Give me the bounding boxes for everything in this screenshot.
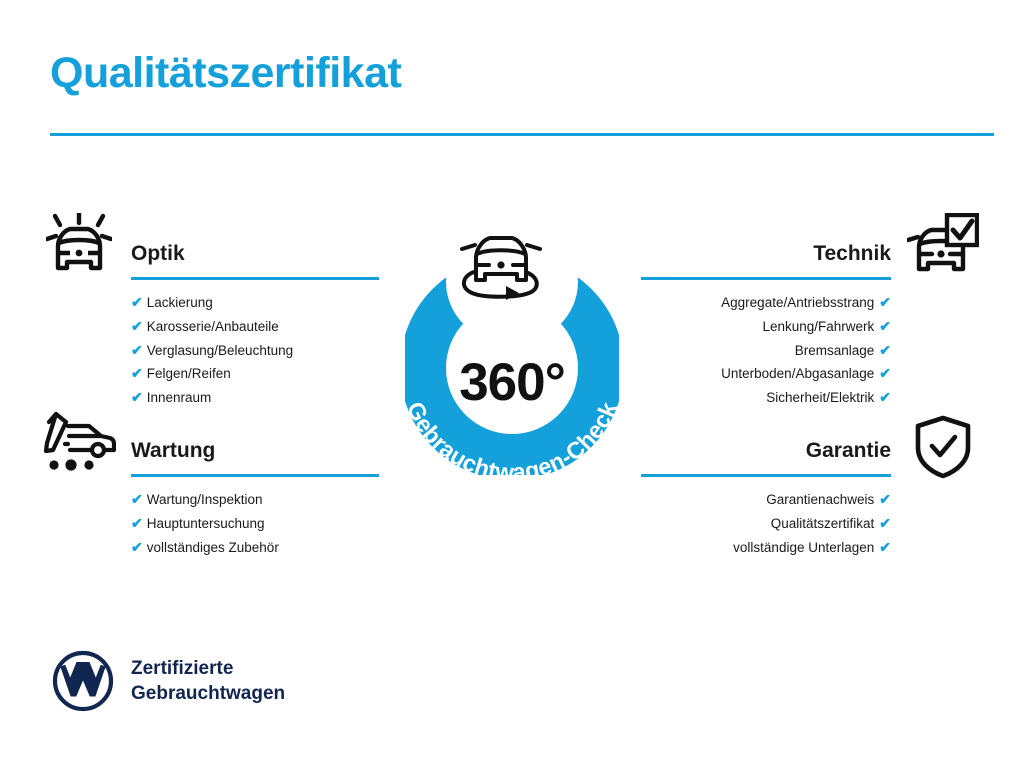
footer-brand: Zertifizierte Gebrauchtwagen [52, 650, 285, 712]
list-item: Bremsanlage✔ [641, 339, 891, 363]
section-technik: Technik Aggregate/Antriebsstrang✔ Lenkun… [641, 240, 891, 410]
list-item-label: Innenraum [147, 390, 212, 405]
360-check-badge: Gebrauchtwagen-Check 360° [372, 196, 652, 486]
list-item: Aggregate/Antriebsstrang✔ [641, 291, 891, 315]
list-item: Garantienachweis✔ [641, 488, 891, 512]
list-item-label: Lenkung/Fahrwerk [762, 319, 874, 334]
list-item: ✔vollständiges Zubehör [131, 536, 379, 560]
list-item: ✔Lackierung [131, 291, 379, 315]
section-garantie-divider [641, 474, 891, 477]
section-garantie-title: Garantie [641, 437, 891, 465]
brand-wordmark: Zertifizierte Gebrauchtwagen [131, 656, 285, 706]
list-item: ✔Felgen/Reifen [131, 362, 379, 386]
list-item-label: Bremsanlage [795, 343, 875, 358]
list-item: ✔Innenraum [131, 386, 379, 410]
check-icon: ✔ [131, 539, 143, 555]
list-item: ✔Verglasung/Beleuchtung [131, 339, 379, 363]
check-icon: ✔ [879, 539, 891, 555]
section-wartung: Wartung ✔Wartung/Inspektion ✔Hauptunters… [131, 437, 379, 559]
list-item-label: vollständiges Zubehör [147, 540, 279, 555]
list-item: Lenkung/Fahrwerk✔ [641, 315, 891, 339]
title-divider [50, 133, 994, 136]
list-item-label: Lackierung [147, 295, 213, 310]
check-icon: ✔ [131, 389, 143, 405]
list-item-label: Garantienachweis [766, 492, 874, 507]
section-optik: Optik ✔Lackierung ✔Karosserie/Anbauteile… [131, 240, 379, 410]
list-item-label: Aggregate/Antriebsstrang [721, 295, 874, 310]
list-item: Qualitätszertifikat✔ [641, 512, 891, 536]
section-technik-list: Aggregate/Antriebsstrang✔ Lenkung/Fahrwe… [641, 291, 891, 410]
check-icon: ✔ [879, 294, 891, 310]
list-item: Unterboden/Abgasanlage✔ [641, 362, 891, 386]
list-item-label: Wartung/Inspektion [147, 492, 263, 507]
list-item-label: Hauptuntersuchung [147, 516, 265, 531]
page-title: Qualitätszertifikat [50, 52, 401, 95]
badge-center-label: 360° [372, 196, 652, 486]
section-garantie-list: Garantienachweis✔ Qualitätszertifikat✔ v… [641, 488, 891, 559]
check-icon: ✔ [879, 389, 891, 405]
check-icon: ✔ [879, 515, 891, 531]
section-technik-title: Technik [641, 240, 891, 268]
check-icon: ✔ [879, 318, 891, 334]
list-item-label: Karosserie/Anbauteile [147, 319, 279, 334]
brand-line-1: Zertifizierte [131, 656, 285, 681]
list-item: ✔Hauptuntersuchung [131, 512, 379, 536]
vw-roundel-logo [52, 650, 114, 712]
check-icon: ✔ [879, 342, 891, 358]
section-optik-title: Optik [131, 240, 379, 268]
check-icon: ✔ [879, 491, 891, 507]
car-shine-icon [46, 213, 112, 280]
list-item: ✔Karosserie/Anbauteile [131, 315, 379, 339]
list-item: vollständige Unterlagen✔ [641, 536, 891, 560]
shield-check-icon [913, 415, 973, 484]
section-technik-header: Technik [641, 240, 891, 280]
list-item-label: vollständige Unterlagen [733, 540, 874, 555]
list-item-label: Qualitätszertifikat [771, 516, 875, 531]
section-optik-list: ✔Lackierung ✔Karosserie/Anbauteile ✔Verg… [131, 291, 379, 410]
check-icon: ✔ [131, 318, 143, 334]
section-optik-divider [131, 277, 379, 280]
section-wartung-list: ✔Wartung/Inspektion ✔Hauptuntersuchung ✔… [131, 488, 379, 559]
section-garantie-header: Garantie [641, 437, 891, 477]
brand-line-2: Gebrauchtwagen [131, 681, 285, 706]
section-wartung-title: Wartung [131, 437, 379, 465]
list-item: ✔Wartung/Inspektion [131, 488, 379, 512]
check-icon: ✔ [131, 365, 143, 381]
list-item: Sicherheit/Elektrik✔ [641, 386, 891, 410]
car-checkbox-icon [907, 213, 979, 280]
check-icon: ✔ [131, 342, 143, 358]
section-wartung-divider [131, 474, 379, 477]
list-item-label: Unterboden/Abgasanlage [721, 366, 874, 381]
section-wartung-header: Wartung [131, 437, 379, 477]
check-icon: ✔ [131, 491, 143, 507]
section-garantie: Garantie Garantienachweis✔ Qualitätszert… [641, 437, 891, 559]
section-technik-divider [641, 277, 891, 280]
check-icon: ✔ [879, 365, 891, 381]
check-icon: ✔ [131, 515, 143, 531]
list-item-label: Sicherheit/Elektrik [766, 390, 874, 405]
list-item-label: Felgen/Reifen [147, 366, 231, 381]
list-item-label: Verglasung/Beleuchtung [147, 343, 293, 358]
check-icon: ✔ [131, 294, 143, 310]
section-optik-header: Optik [131, 240, 379, 280]
car-service-record-icon [44, 410, 116, 477]
